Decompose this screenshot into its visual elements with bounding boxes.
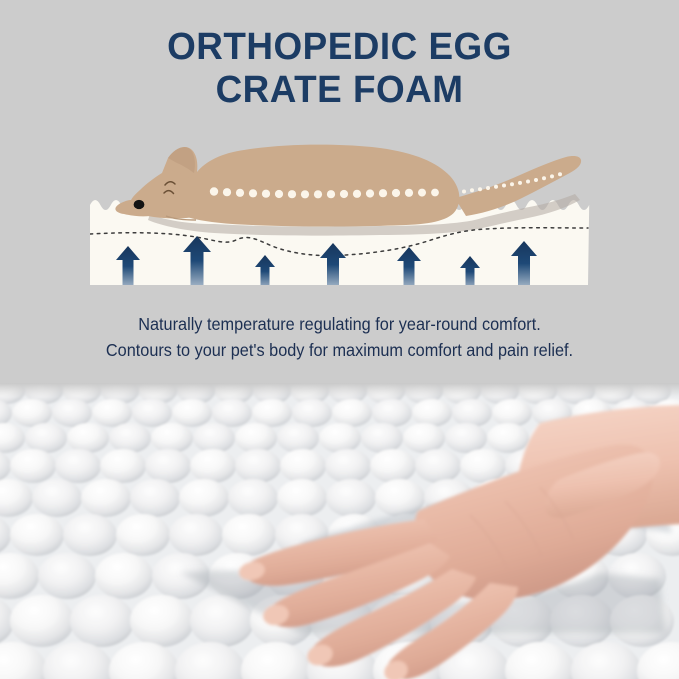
egg-crate-foam-photo [0, 383, 679, 679]
dog-foam-illustration [0, 128, 679, 303]
description-line-2: Contours to your pet's body for maximum … [24, 338, 655, 364]
title-line-1: ORTHOPEDIC EGG [10, 26, 669, 69]
description-text: Naturally temperature regulating for yea… [0, 312, 679, 364]
description-line-1: Naturally temperature regulating for yea… [24, 312, 655, 338]
infographic-top-panel: ORTHOPEDIC EGG CRATE FOAM [0, 0, 679, 383]
dog-nose [134, 200, 145, 209]
product-infographic-page: ORTHOPEDIC EGG CRATE FOAM [0, 0, 679, 679]
title-line-2: CRATE FOAM [10, 69, 669, 112]
page-title: ORTHOPEDIC EGG CRATE FOAM [0, 26, 679, 111]
